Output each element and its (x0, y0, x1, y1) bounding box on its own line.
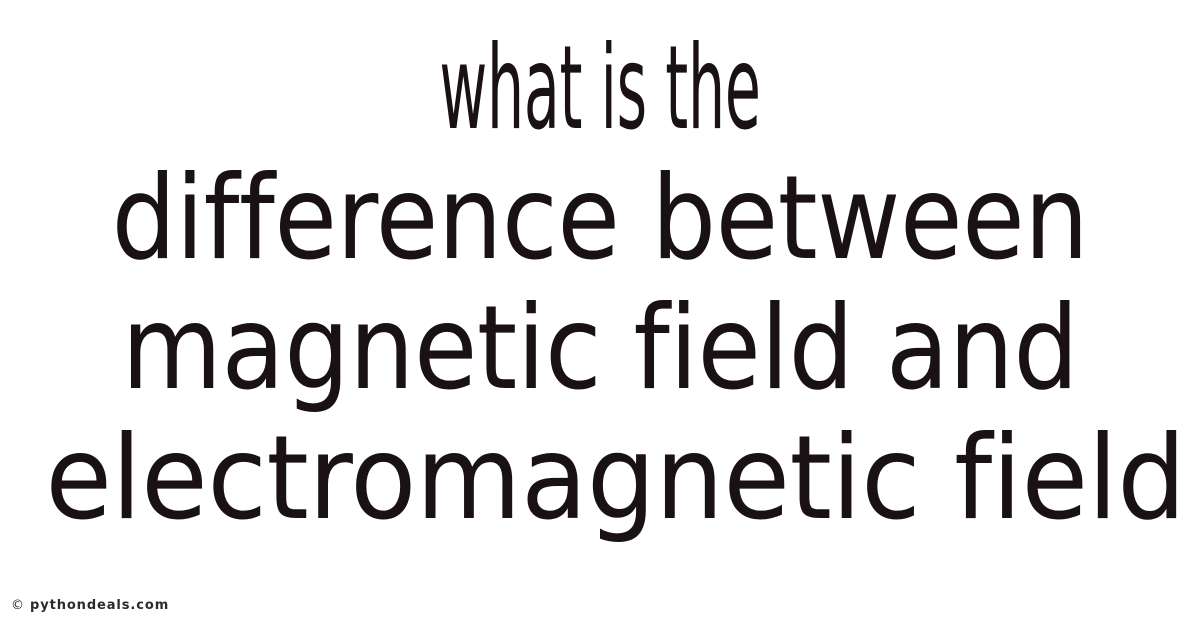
headline-line-1: what is the (300, 24, 900, 154)
headline-line-4: electromagnetic field (45, 414, 1154, 544)
title-card: what is the difference between magnetic … (0, 0, 1200, 628)
headline-block: what is the difference between magnetic … (0, 0, 1200, 568)
copyright-icon: © (11, 599, 24, 612)
headline-line-2: difference between (79, 154, 1121, 284)
footer-watermark: © pythondeals.com (11, 596, 169, 614)
footer-site-name: pythondeals.com (30, 599, 169, 612)
headline-line-3: magnetic field and (73, 284, 1128, 414)
